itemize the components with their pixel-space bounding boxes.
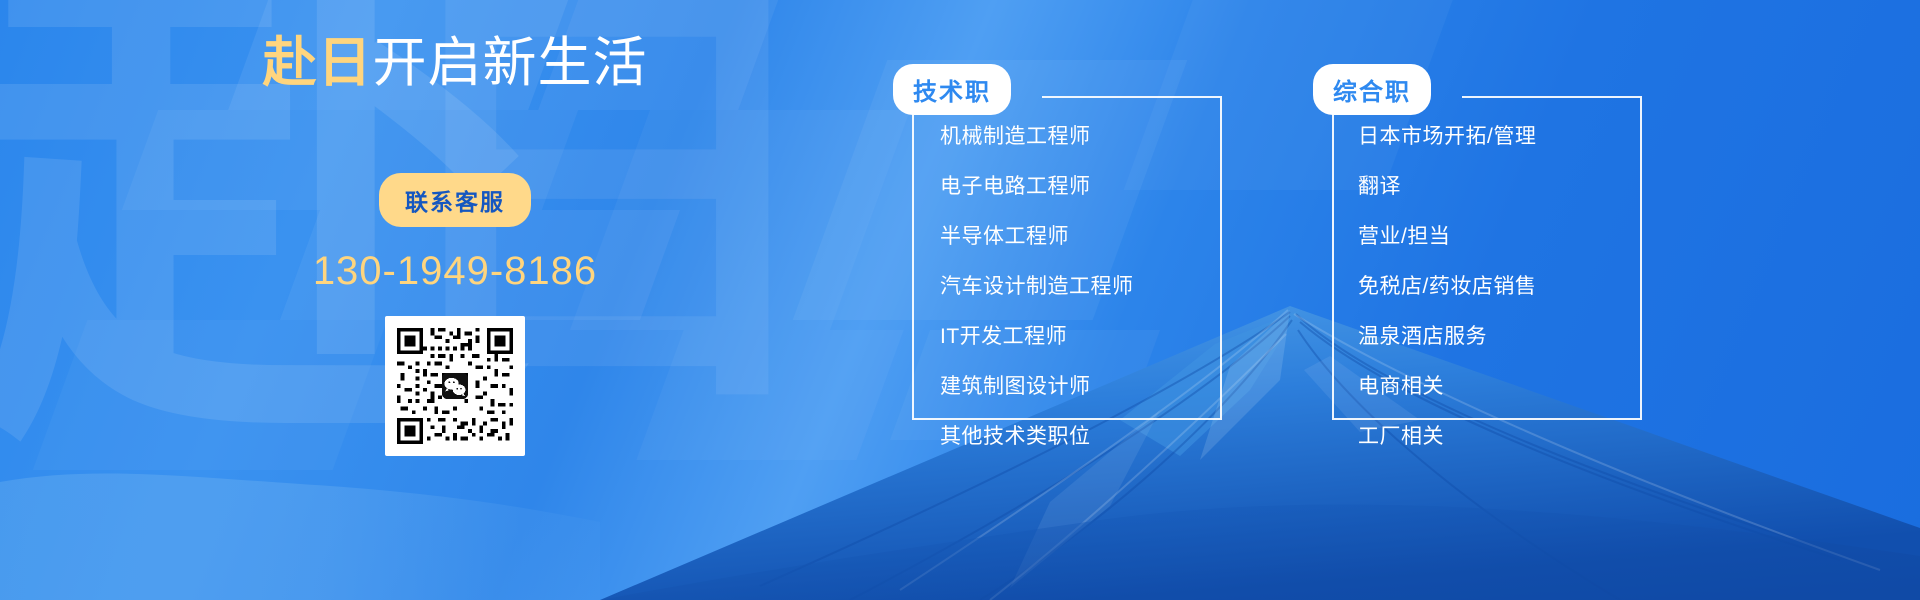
list-item[interactable]: 免税店/药妆店销售 (1358, 262, 1536, 312)
list-item[interactable]: 半导体工程师 (940, 212, 1134, 262)
phone-number[interactable]: 130-1949-8186 (235, 249, 675, 294)
qr-code-icon (393, 324, 517, 448)
category-label-technical: 技术职 (893, 64, 1011, 115)
list-item[interactable]: 日本市场开拓/管理 (1358, 112, 1536, 162)
page-title: 赴日开启新生活 (235, 34, 675, 93)
list-item[interactable]: 工厂相关 (1358, 412, 1536, 462)
list-item[interactable]: 电商相关 (1358, 362, 1536, 412)
list-item[interactable]: IT开发工程师 (940, 312, 1134, 362)
list-item[interactable]: 温泉酒店服务 (1358, 312, 1536, 362)
wechat-qr-code[interactable] (385, 316, 525, 456)
list-item[interactable]: 电子电路工程师 (940, 162, 1134, 212)
list-item[interactable]: 机械制造工程师 (940, 112, 1134, 162)
category-label-general: 综合职 (1313, 64, 1431, 115)
list-item[interactable]: 营业/担当 (1358, 212, 1536, 262)
left-contact-column: 赴日开启新生活 联系客服 130-1949-8186 (235, 34, 675, 461)
contact-support-button[interactable]: 联系客服 (379, 173, 531, 227)
headline-highlight: 赴日 (263, 33, 373, 93)
general-jobs-list: 日本市场开拓/管理 翻译 营业/担当 免税店/药妆店销售 温泉酒店服务 电商相关… (1358, 112, 1536, 462)
technical-jobs-list: 机械制造工程师 电子电路工程师 半导体工程师 汽车设计制造工程师 IT开发工程师… (940, 112, 1134, 462)
list-item[interactable]: 其他技术类职位 (940, 412, 1134, 462)
list-item[interactable]: 汽车设计制造工程师 (940, 262, 1134, 312)
list-item[interactable]: 建筑制图设计师 (940, 362, 1134, 412)
recruitment-banner: 赴 日 (0, 0, 1920, 600)
headline-rest: 开启新生活 (373, 33, 648, 93)
list-item[interactable]: 翻译 (1358, 162, 1536, 212)
